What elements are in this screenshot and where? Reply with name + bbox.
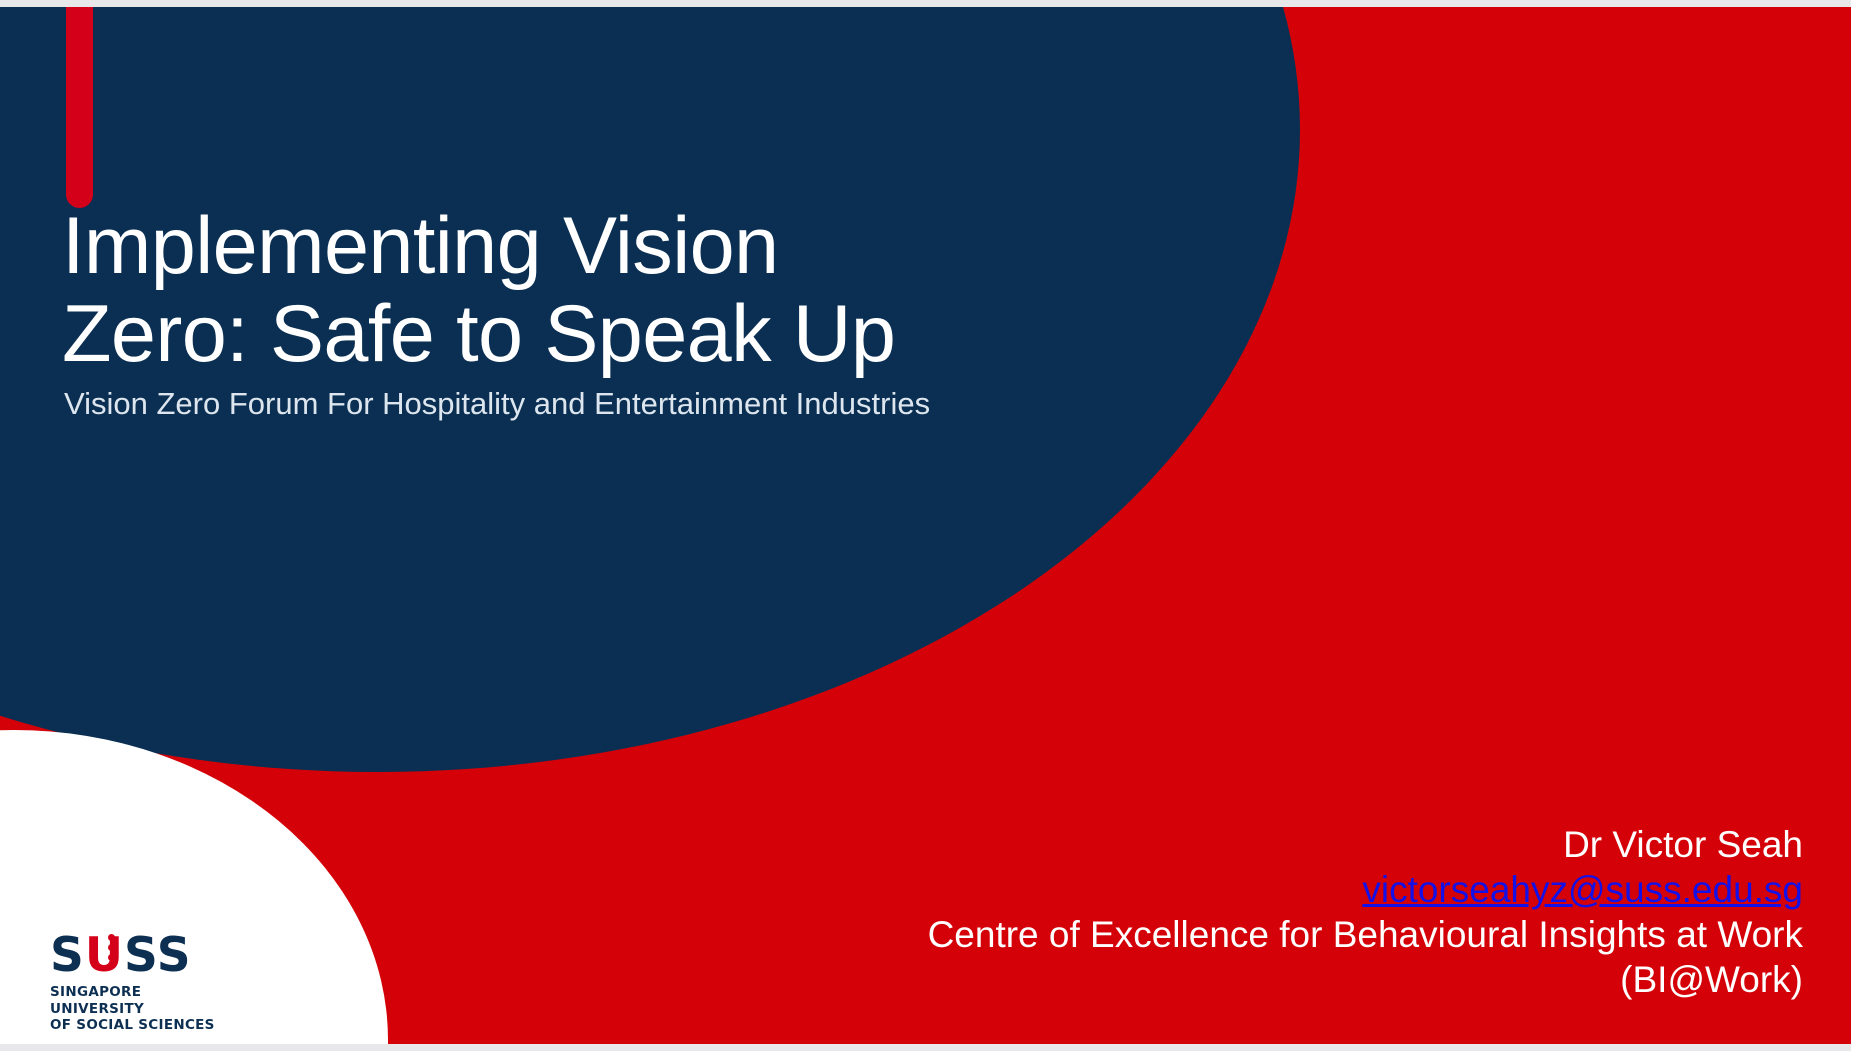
presenter-block: Dr Victor Seah victorseahyz@suss.edu.sg … bbox=[703, 822, 1803, 1003]
suss-logo-letter-u: U bbox=[85, 928, 124, 983]
suss-logo-dot bbox=[108, 944, 115, 951]
slide-canvas: Implementing Vision Zero: Safe to Speak … bbox=[0, 7, 1851, 1044]
suss-logo-dot bbox=[108, 934, 115, 941]
suss-logo-dots-icon bbox=[108, 934, 116, 964]
suss-logo-dot bbox=[108, 954, 115, 961]
suss-logo-letter-s1: S bbox=[50, 928, 85, 983]
page-title: Implementing Vision Zero: Safe to Speak … bbox=[62, 203, 942, 379]
suss-logo-letter-ss: SS bbox=[124, 928, 192, 983]
title-block: Implementing Vision Zero: Safe to Speak … bbox=[62, 203, 942, 424]
suss-logo-wordmark: SUSS bbox=[50, 933, 235, 979]
slide-subtitle: Vision Zero Forum For Hospitality and En… bbox=[64, 385, 942, 424]
suss-logo-letters: SUSS bbox=[50, 933, 192, 979]
suss-logo-mark: SUSS bbox=[50, 933, 194, 979]
presenter-name: Dr Victor Seah bbox=[703, 822, 1803, 867]
presentation-slide: Implementing Vision Zero: Safe to Speak … bbox=[0, 0, 1851, 1051]
presenter-affiliation-line-1: Centre of Excellence for Behavioural Ins… bbox=[703, 912, 1803, 957]
presenter-email-link[interactable]: victorseahyz@suss.edu.sg bbox=[703, 867, 1803, 912]
suss-logo-tagline: SINGAPORE UNIVERSITY OF SOCIAL SCIENCES bbox=[50, 984, 235, 1034]
red-accent-bar bbox=[66, 7, 93, 208]
presenter-affiliation-line-2: (BI@Work) bbox=[703, 957, 1803, 1002]
suss-logo: SUSS SINGAPORE UNIVERSITY OF SOCIAL SCIE… bbox=[50, 933, 235, 1034]
